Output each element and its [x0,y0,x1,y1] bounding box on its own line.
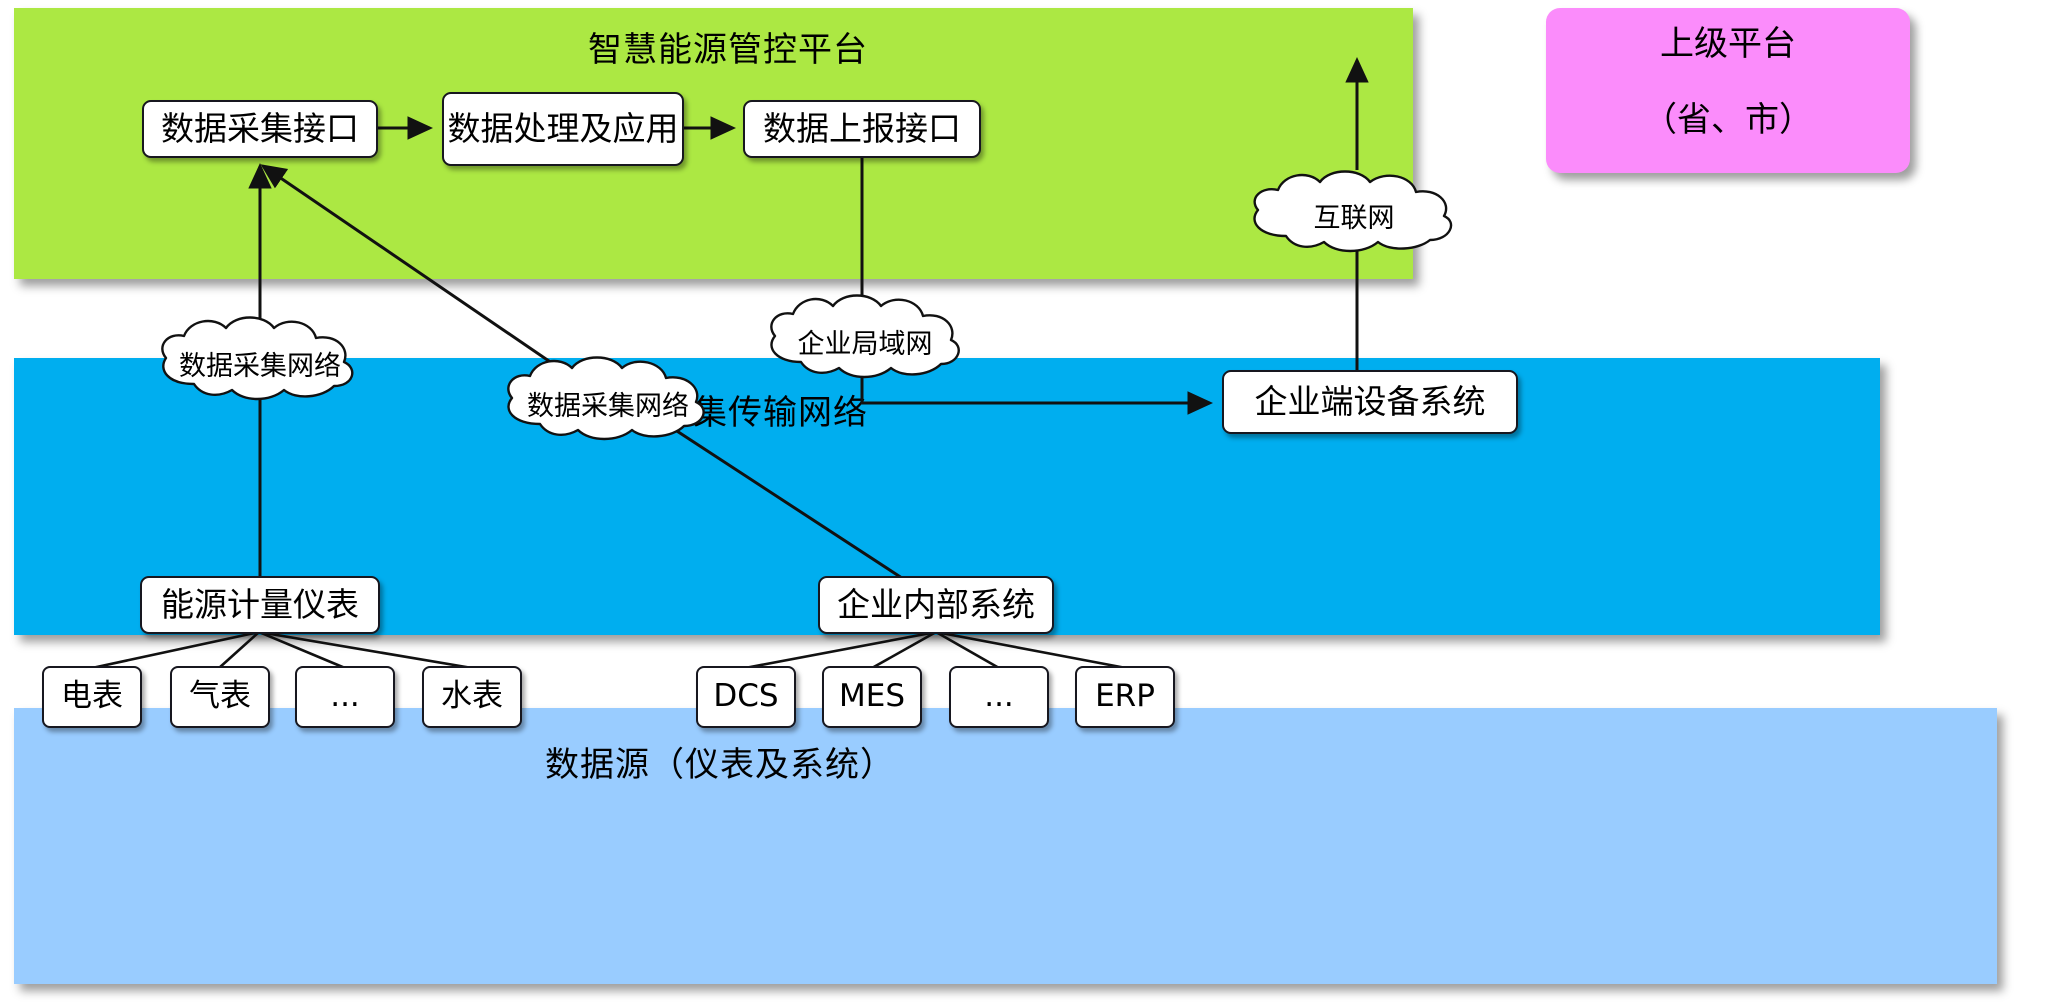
node-gas-meter[interactable]: 气表 [170,666,270,728]
diagram-canvas: 智慧能源管控平台 数据采集传输网络 数据源（仪表及系统） 上级平台 （省、市） [0,0,2048,1003]
upper-platform-line1: 上级平台 [1546,16,1910,65]
cloud-label-2: 数据采集网络 [490,384,726,423]
node-electricity-meter[interactable]: 电表 [42,666,142,728]
node-data-processing-application[interactable]: 数据处理及应用 [442,92,684,166]
cloud-label-3: 企业局域网 [755,322,975,361]
node-more-meters[interactable]: ... [295,666,395,728]
node-data-collection-interface[interactable]: 数据采集接口 [142,100,378,158]
node-dcs[interactable]: DCS [696,666,796,728]
cloud-label-4: 互联网 [1238,196,1470,235]
cloud-data-collection-network-1: 数据采集网络 [146,312,374,404]
upper-platform-line2: （省、市） [1546,92,1910,141]
node-data-reporting-interface[interactable]: 数据上报接口 [743,100,981,158]
node-enterprise-device-system[interactable]: 企业端设备系统 [1222,370,1518,434]
band-title-source: 数据源（仪表及系统） [545,737,895,786]
cloud-enterprise-lan: 企业局域网 [755,290,975,382]
node-enterprise-internal-system[interactable]: 企业内部系统 [818,576,1054,634]
node-water-meter[interactable]: 水表 [422,666,522,728]
cloud-label-1: 数据采集网络 [146,344,374,383]
node-erp[interactable]: ERP [1075,666,1175,728]
cloud-internet: 互联网 [1238,168,1470,256]
node-energy-metering-instruments[interactable]: 能源计量仪表 [140,576,380,634]
node-mes[interactable]: MES [822,666,922,728]
band-data-source [14,708,1997,984]
cloud-data-collection-network-2: 数据采集网络 [490,352,726,444]
band-title-platform: 智慧能源管控平台 [588,22,868,71]
node-more-systems[interactable]: ... [949,666,1049,728]
